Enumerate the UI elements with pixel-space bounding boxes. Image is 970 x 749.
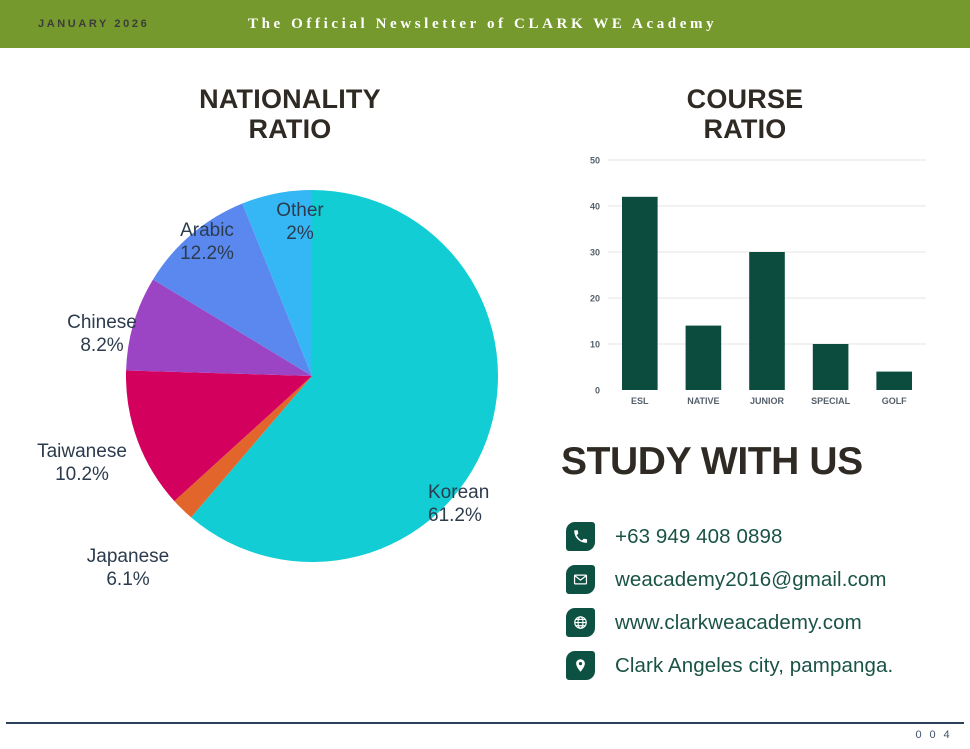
bar-y-tick-label: 40 [590,202,600,212]
pie-label-chinese-value: 8.2% [42,335,162,358]
pie-label-taiwanese-name: Taiwanese [37,441,127,462]
nationality-pie-chart: Korean 61.2% Other 2% Arabic 12.2% Chine… [0,52,560,652]
pie-label-japanese-name: Japanese [87,546,169,567]
bar-svg: 01020304050 ESLNATIVEJUNIORSPECIALGOLF [568,146,930,426]
pie-label-arabic-value: 12.2% [152,243,262,266]
contact-text: Clark Angeles city, pampanga. [615,654,893,678]
globe-icon [566,608,595,637]
contact-row[interactable]: www.clarkweacademy.com [566,601,966,644]
pie-label-arabic: Arabic 12.2% [152,220,262,266]
pie-label-other: Other 2% [250,200,350,246]
pie-label-japanese-value: 6.1% [58,569,198,592]
bar-y-tick-label: 0 [595,386,600,396]
pie-label-taiwanese: Taiwanese 10.2% [12,441,152,487]
contact-list: +63 949 408 0898weacademy2016@gmail.comw… [566,515,966,687]
pie-label-chinese: Chinese 8.2% [42,312,162,358]
bar-x-tick-label: JUNIOR [750,396,785,406]
pie-label-other-name: Other [276,200,324,221]
header-bar: JANUARY 2026 The Official Newsletter of … [0,0,970,48]
pie-label-chinese-name: Chinese [67,312,137,333]
bar-series [622,197,912,390]
pie-label-other-value: 2% [250,223,350,246]
bar-x-axis-ticks: ESLNATIVEJUNIORSPECIALGOLF [631,396,907,406]
pie-label-japanese: Japanese 6.1% [58,546,198,592]
bar-y-tick-label: 20 [590,294,600,304]
pie-label-korean-value: 61.2% [428,505,489,528]
contact-row[interactable]: +63 949 408 0898 [566,515,966,558]
contact-row[interactable]: Clark Angeles city, pampanga. [566,644,966,687]
course-bar-chart: 01020304050 ESLNATIVEJUNIORSPECIALGOLF [568,146,930,426]
pie-label-taiwanese-value: 10.2% [12,464,152,487]
pie-label-arabic-name: Arabic [180,220,234,241]
bar-x-tick-label: GOLF [882,396,907,406]
header-newsletter-title: The Official Newsletter of CLARK WE Acad… [248,16,717,33]
bar-y-tick-label: 10 [590,340,600,350]
bar-x-tick-label: SPECIAL [811,396,851,406]
bar-native [686,326,722,390]
header-date: JANUARY 2026 [38,18,149,30]
phone-icon [566,522,595,551]
course-chart-title: COURSE RATIO [600,84,890,144]
bar-x-tick-label: ESL [631,396,649,406]
contact-text: weacademy2016@gmail.com [615,568,887,592]
footer-divider [6,722,964,724]
bar-x-tick-label: NATIVE [687,396,719,406]
location-pin-icon [566,651,595,680]
course-title-line2: RATIO [600,114,890,144]
bar-junior [749,252,785,390]
study-with-us-heading: STUDY WITH US [561,440,863,484]
bar-esl [622,197,658,390]
bar-special [813,344,849,390]
email-icon [566,565,595,594]
pie-label-korean: Korean 61.2% [428,482,489,528]
footer-page-number: 0 0 4 [916,729,952,741]
contact-text: +63 949 408 0898 [615,525,782,549]
contact-text: www.clarkweacademy.com [615,611,862,635]
bar-y-tick-label: 30 [590,248,600,258]
course-title-line1: COURSE [600,84,890,114]
bar-y-axis-ticks: 01020304050 [590,156,600,396]
pie-label-korean-name: Korean [428,482,489,503]
bar-golf [876,372,912,390]
bar-y-tick-label: 50 [590,156,600,166]
contact-row[interactable]: weacademy2016@gmail.com [566,558,966,601]
